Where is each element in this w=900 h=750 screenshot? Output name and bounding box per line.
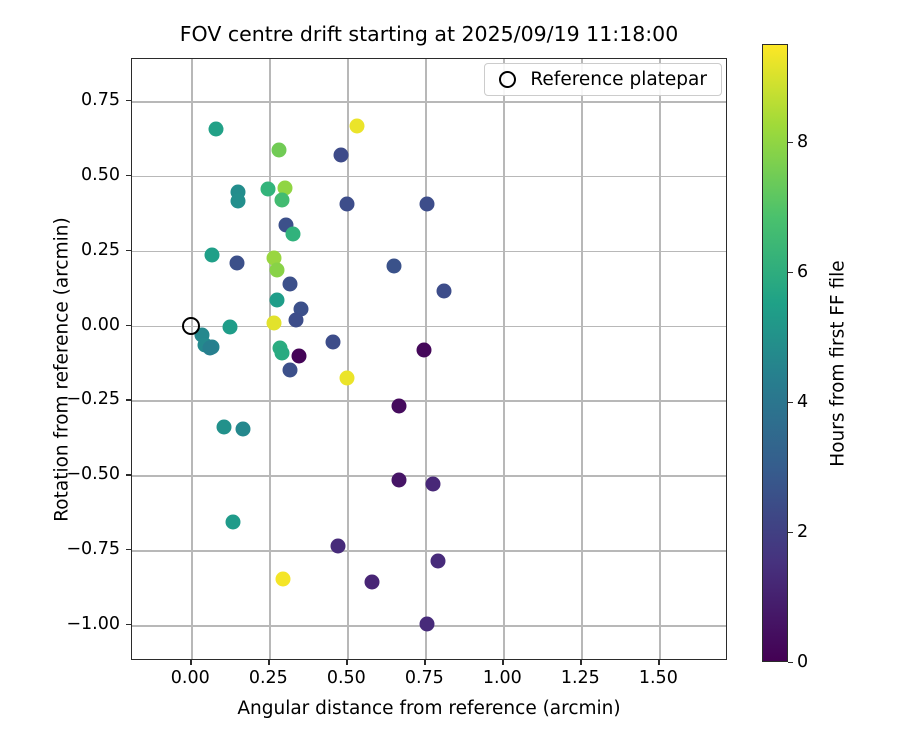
x-tick-mark bbox=[580, 660, 581, 665]
y-tick-mark bbox=[126, 100, 131, 101]
scatter-point bbox=[426, 477, 441, 492]
figure-canvas: FOV centre drift starting at 2025/09/19 … bbox=[0, 0, 900, 750]
x-tick-label: 0.75 bbox=[405, 668, 444, 688]
colorbar-tick-mark bbox=[788, 142, 793, 143]
scatter-point bbox=[419, 197, 434, 212]
x-tick-mark bbox=[346, 660, 347, 665]
reference-platepar-marker-icon bbox=[499, 71, 516, 88]
x-tick-label: 1.50 bbox=[639, 668, 678, 688]
scatter-point bbox=[217, 420, 232, 435]
scatter-point bbox=[223, 320, 238, 335]
scatter-point bbox=[391, 472, 406, 487]
scatter-point bbox=[270, 293, 285, 308]
scatter-point bbox=[285, 227, 300, 242]
x-tick-mark bbox=[190, 660, 191, 665]
x-tick-mark bbox=[502, 660, 503, 665]
scatter-point bbox=[365, 574, 380, 589]
scatter-point bbox=[340, 370, 355, 385]
scatter-point bbox=[326, 335, 341, 350]
colorbar-tick-mark bbox=[788, 272, 793, 273]
colorbar-tick-mark bbox=[788, 532, 793, 533]
y-tick-label: 0.50 bbox=[81, 165, 120, 185]
scatter-point bbox=[340, 197, 355, 212]
x-tick-label: 1.25 bbox=[561, 668, 600, 688]
y-tick-label: −0.50 bbox=[66, 464, 120, 484]
scatter-point bbox=[282, 363, 297, 378]
y-tick-label: 0.25 bbox=[81, 240, 120, 260]
scatter-point bbox=[330, 538, 345, 553]
legend: Reference platepar bbox=[484, 63, 722, 96]
x-tick-label: 0.25 bbox=[249, 668, 288, 688]
scatter-point bbox=[260, 182, 275, 197]
scatter-point bbox=[231, 194, 246, 209]
y-tick-mark bbox=[126, 325, 131, 326]
x-axis-label: Angular distance from reference (arcmin) bbox=[131, 698, 727, 719]
colorbar-tick-mark bbox=[788, 402, 793, 403]
colorbar-tick-mark bbox=[788, 662, 793, 663]
scatter-point bbox=[391, 399, 406, 414]
colorbar-tick-label: 6 bbox=[797, 262, 808, 282]
x-tick-label: 0.50 bbox=[327, 668, 366, 688]
y-tick-mark bbox=[126, 250, 131, 251]
y-tick-label: −0.75 bbox=[66, 539, 120, 559]
y-axis-label: Rotation from reference (arcmin) bbox=[52, 69, 73, 671]
y-tick-label: −0.25 bbox=[66, 389, 120, 409]
scatter-point bbox=[416, 342, 431, 357]
scatter-point bbox=[266, 315, 281, 330]
x-tick-mark bbox=[268, 660, 269, 665]
scatter-point bbox=[229, 255, 244, 270]
colorbar-tick-label: 8 bbox=[797, 132, 808, 152]
colorbar-label: Hours from first FF file bbox=[828, 55, 849, 673]
scatter-point bbox=[288, 312, 303, 327]
scatter-points-layer bbox=[132, 59, 726, 659]
scatter-point bbox=[419, 616, 434, 631]
colorbar-tick-label: 0 bbox=[797, 652, 808, 672]
scatter-point bbox=[274, 345, 289, 360]
scatter-point bbox=[204, 248, 219, 263]
colorbar bbox=[762, 44, 788, 662]
y-tick-mark bbox=[126, 175, 131, 176]
scatter-point bbox=[282, 276, 297, 291]
scatter-point bbox=[276, 571, 291, 586]
scatter-point bbox=[226, 514, 241, 529]
scatter-point bbox=[271, 143, 286, 158]
y-tick-mark bbox=[126, 474, 131, 475]
scatter-point bbox=[274, 192, 289, 207]
colorbar-tick-label: 4 bbox=[797, 392, 808, 412]
colorbar-tick-label: 2 bbox=[797, 522, 808, 542]
scatter-point bbox=[235, 421, 250, 436]
scatter-point bbox=[334, 147, 349, 162]
scatter-point bbox=[203, 341, 218, 356]
legend-label-reference-platepar: Reference platepar bbox=[530, 69, 711, 90]
scatter-point bbox=[270, 263, 285, 278]
y-tick-mark bbox=[126, 549, 131, 550]
scatter-point bbox=[349, 119, 364, 134]
y-tick-mark bbox=[126, 624, 131, 625]
scatter-point bbox=[209, 122, 224, 137]
scatter-point bbox=[437, 284, 452, 299]
x-tick-mark bbox=[424, 660, 425, 665]
chart-title: FOV centre drift starting at 2025/09/19 … bbox=[131, 22, 727, 46]
x-tick-label: 0.00 bbox=[171, 668, 210, 688]
y-tick-mark bbox=[126, 399, 131, 400]
reference-platepar-point bbox=[182, 317, 200, 335]
scatter-point bbox=[430, 553, 445, 568]
x-tick-mark bbox=[658, 660, 659, 665]
y-tick-label: 0.00 bbox=[81, 315, 120, 335]
x-tick-label: 1.00 bbox=[483, 668, 522, 688]
scatter-point bbox=[387, 258, 402, 273]
y-tick-label: −1.00 bbox=[66, 614, 120, 634]
y-tick-label: 0.75 bbox=[81, 90, 120, 110]
scatter-point bbox=[291, 348, 306, 363]
plot-axes: Reference platepar bbox=[131, 58, 727, 660]
